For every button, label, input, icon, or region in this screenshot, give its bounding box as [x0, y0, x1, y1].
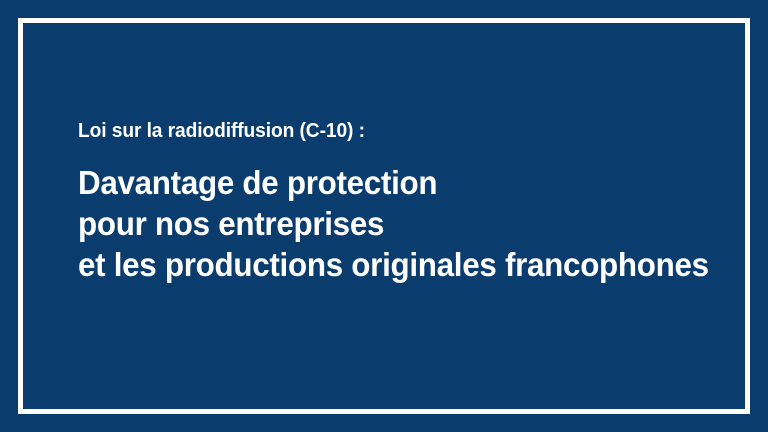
slide-canvas: Loi sur la radiodiffusion (C-10) : Davan… — [0, 0, 768, 432]
headline-line-3: et les productions originales francophon… — [78, 244, 686, 285]
text-block: Loi sur la radiodiffusion (C-10) : Davan… — [78, 118, 718, 285]
headline: Davantage de protection pour nos entrepr… — [78, 162, 686, 285]
eyebrow-label: Loi sur la radiodiffusion (C-10) : — [78, 118, 692, 144]
headline-line-2: pour nos entreprises — [78, 203, 686, 244]
headline-line-1: Davantage de protection — [78, 162, 686, 203]
